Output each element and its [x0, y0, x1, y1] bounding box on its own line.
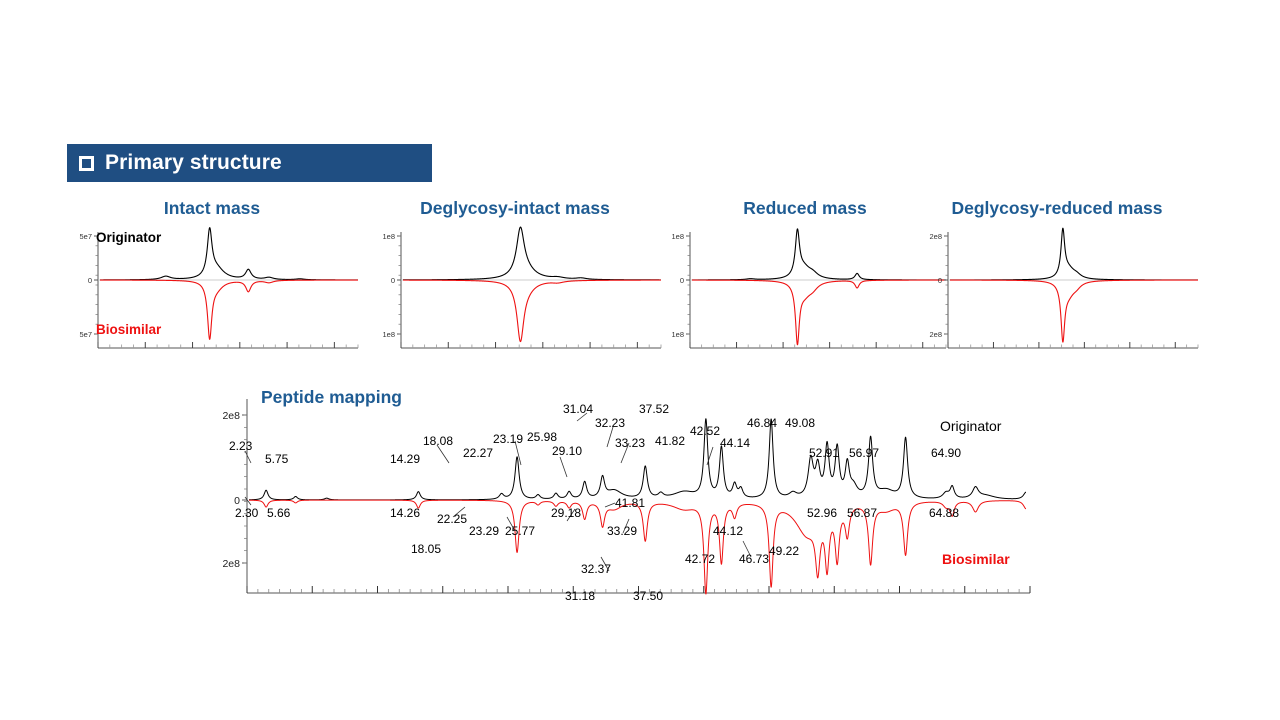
- peptide-label-biosimilar: 2.30: [235, 507, 258, 519]
- peptide-label-biosimilar: 5.66: [267, 507, 290, 519]
- panel-intact-mass: Intact mass 5e705e7 Originator Biosimila…: [62, 198, 362, 363]
- peptide-label-originator: 5.75: [265, 453, 288, 465]
- peptide-label-biosimilar: 31.18: [565, 590, 595, 602]
- svg-text:0: 0: [88, 276, 92, 285]
- mirror-plot-svg: 1e801e8: [660, 226, 950, 356]
- panel-deglycosy-reduced-mass: Deglycosy-reduced mass 2e802e8: [912, 198, 1202, 363]
- peptide-label-originator: 25.98: [527, 431, 557, 443]
- peptide-originator-label: Originator: [940, 418, 1001, 434]
- peptide-label-originator: 32.23: [595, 417, 625, 429]
- svg-text:1e8: 1e8: [671, 330, 684, 339]
- peptide-label-biosimilar: 42.72: [685, 553, 715, 565]
- peptide-label-biosimilar: 56.87: [847, 507, 877, 519]
- peptide-label-originator: 31.04: [563, 403, 593, 415]
- peptide-label-biosimilar: 29.18: [551, 507, 581, 519]
- plot-deglycosy-intact-mass: 1e801e8: [365, 226, 665, 356]
- svg-text:0: 0: [680, 276, 684, 285]
- peptide-label-originator: 41.82: [655, 435, 685, 447]
- panel-title-deglycosy-intact-mass: Deglycosy-intact mass: [365, 198, 665, 219]
- peptide-biosimilar-label: Biosimilar: [942, 551, 1010, 567]
- plot-deglycosy-reduced-mass: 2e802e8: [912, 226, 1202, 356]
- panel-deglycosy-intact-mass: Deglycosy-intact mass 1e801e8: [365, 198, 665, 363]
- peptide-label-biosimilar: 37.50: [633, 590, 663, 602]
- peptide-label-originator: 64.90: [931, 447, 961, 459]
- panel-reduced-mass: Reduced mass 1e801e8: [660, 198, 950, 363]
- peptide-label-biosimilar: 23.29: [469, 525, 499, 537]
- biosimilar-label: Biosimilar: [96, 322, 161, 337]
- peptide-label-biosimilar: 32.37: [581, 563, 611, 575]
- svg-text:2e8: 2e8: [222, 558, 240, 570]
- peptide-label-biosimilar: 33.29: [607, 525, 637, 537]
- peptide-label-originator: 14.29: [390, 453, 420, 465]
- peptide-label-originator: 49.08: [785, 417, 815, 429]
- peptide-label-originator: 33.23: [615, 437, 645, 449]
- peptide-label-originator: 56.97: [849, 447, 879, 459]
- peptide-label-originator: 37.52: [639, 403, 669, 415]
- plot-reduced-mass: 1e801e8: [660, 226, 950, 356]
- mirror-plot-svg: 2e802e8: [912, 226, 1202, 356]
- peptide-label-biosimilar: 46.73: [739, 553, 769, 565]
- svg-text:1e8: 1e8: [671, 232, 684, 241]
- svg-text:5e7: 5e7: [79, 330, 92, 339]
- peptide-label-biosimilar: 25.77: [505, 525, 535, 537]
- peptide-label-biosimilar: 18.05: [411, 543, 441, 555]
- peptide-label-originator: 52.91: [809, 447, 839, 459]
- originator-label: Originator: [96, 230, 161, 245]
- peptide-label-biosimilar: 44.12: [713, 525, 743, 537]
- peptide-label-originator: 2.23: [229, 440, 252, 452]
- peptide-label-biosimilar: 49.22: [769, 545, 799, 557]
- peptide-label-biosimilar: 22.25: [437, 513, 467, 525]
- svg-text:1e8: 1e8: [382, 330, 395, 339]
- peptide-label-originator: 23.19: [493, 433, 523, 445]
- peptide-label-biosimilar: 14.26: [390, 507, 420, 519]
- svg-text:5e7: 5e7: [79, 232, 92, 241]
- peptide-label-originator: 42.52: [690, 425, 720, 437]
- svg-text:2e8: 2e8: [929, 330, 942, 339]
- svg-text:0: 0: [391, 276, 395, 285]
- peptide-label-biosimilar: 41.81: [615, 497, 645, 509]
- svg-text:0: 0: [938, 276, 942, 285]
- peptide-label-originator: 22.27: [463, 447, 493, 459]
- square-bullet-icon: [79, 156, 94, 171]
- svg-text:2e8: 2e8: [929, 232, 942, 241]
- svg-text:1e8: 1e8: [382, 232, 395, 241]
- peptide-label-biosimilar: 52.96: [807, 507, 837, 519]
- page-title: Primary structure: [105, 151, 282, 175]
- mirror-plot-svg: 1e801e8: [365, 226, 665, 356]
- panel-title-reduced-mass: Reduced mass: [660, 198, 950, 219]
- peptide-label-originator: 46.84: [747, 417, 777, 429]
- peptide-label-originator: 29.10: [552, 445, 582, 457]
- svg-text:2e8: 2e8: [222, 410, 240, 422]
- panel-title-deglycosy-reduced-mass: Deglycosy-reduced mass: [912, 198, 1202, 219]
- panel-peptide-mapping: Peptide mapping Originator Biosimilar 2e…: [215, 385, 1045, 615]
- peptide-label-biosimilar: 64.88: [929, 507, 959, 519]
- panel-title-peptide-mapping: Peptide mapping: [261, 387, 402, 408]
- peptide-label-originator: 18.08: [423, 435, 453, 447]
- peptide-label-originator: 44.14: [720, 437, 750, 449]
- panel-title-intact-mass: Intact mass: [62, 198, 362, 219]
- slide-title-banner: Primary structure: [67, 144, 432, 182]
